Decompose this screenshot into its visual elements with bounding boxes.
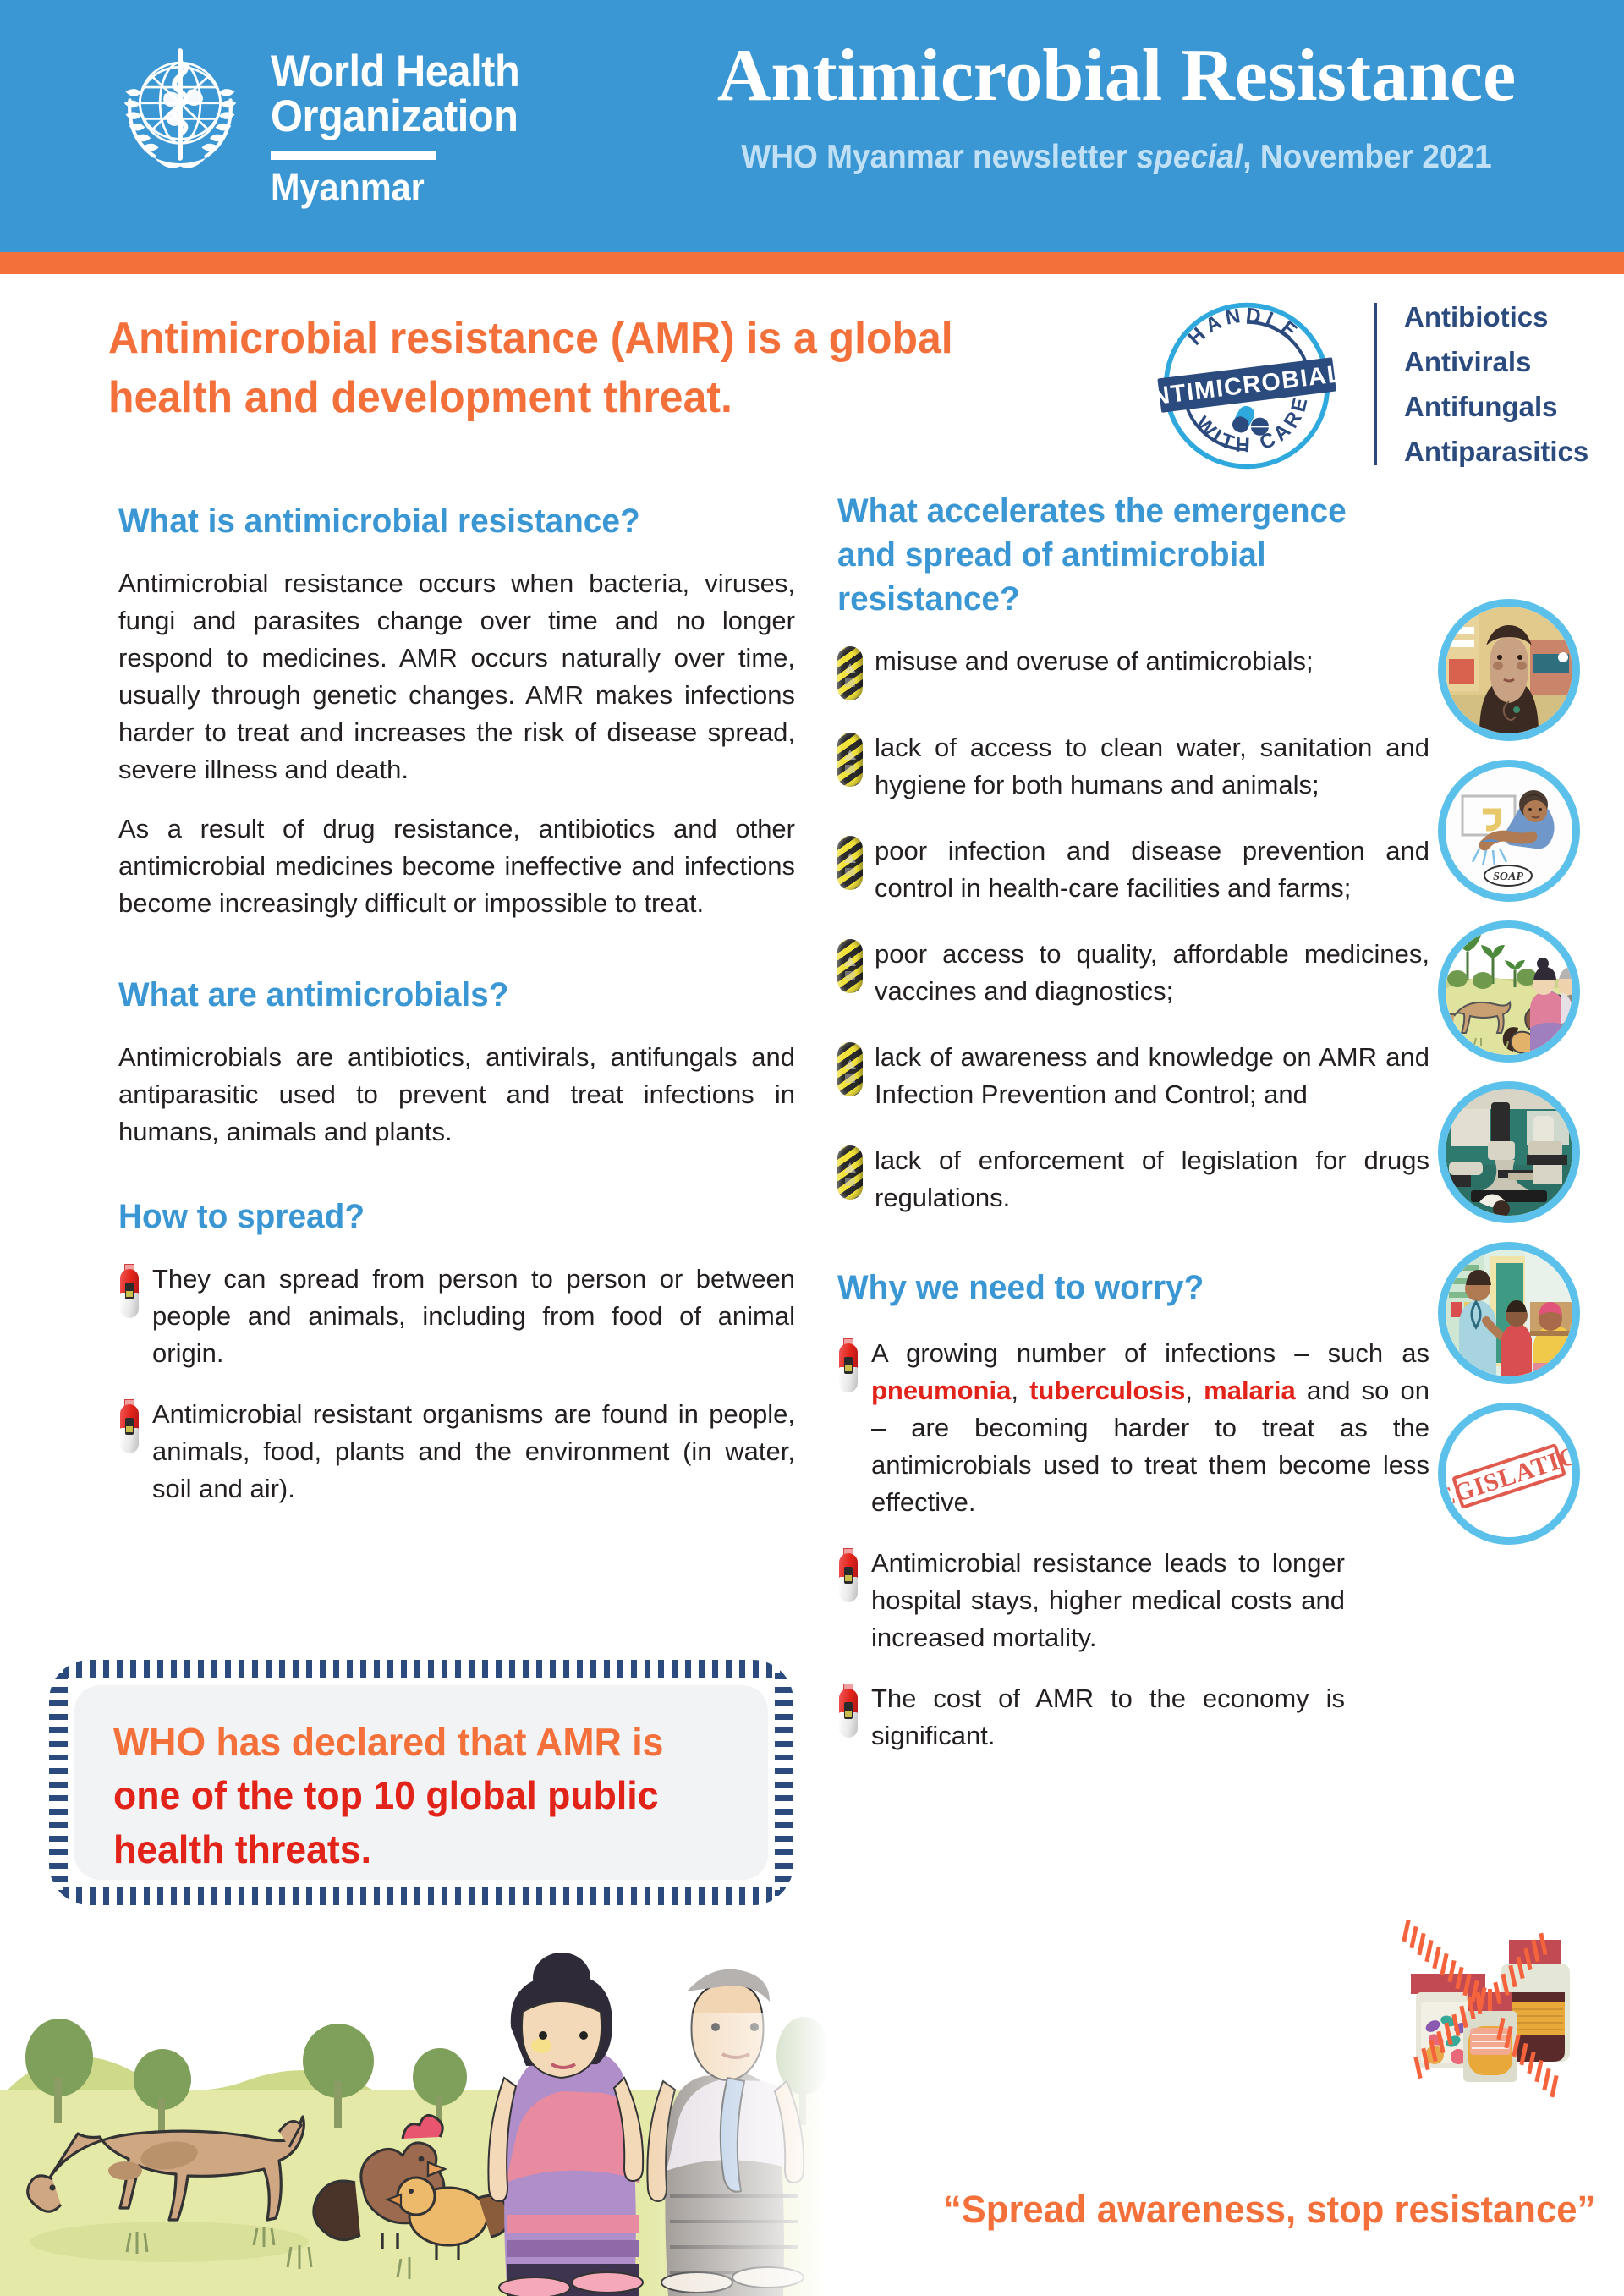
who-declaration-callout: WHO has declared that AMR is one of the … xyxy=(49,1660,793,1905)
paragraph-what-is-amr-2: As a result of drug resistance, antibiot… xyxy=(118,810,795,922)
accelerator-bullet-text-5: lack of awareness and knowledge on AMR a… xyxy=(875,1039,1429,1113)
worry-bullet-text-2: Antimicrobial resistance leads to longer… xyxy=(871,1545,1345,1656)
spread-bullet-text-2: Antimicrobial resistant organisms are fo… xyxy=(152,1396,795,1508)
handle-antimicrobials-with-care-badge-icon: HANDLE WITH CARE ANTIMICROBIALS xyxy=(1157,296,1336,475)
svg-text:HANDLE: HANDLE xyxy=(1184,304,1305,349)
heading-what-is-amr: What is antimicrobial resistance? xyxy=(118,499,775,543)
capsule-bullet-icon xyxy=(837,1338,859,1392)
amr-type-antifungals: Antifungals xyxy=(1404,393,1588,420)
list-item: poor infection and disease prevention an… xyxy=(837,832,1429,907)
list-item: lack of access to clean water, sanitatio… xyxy=(837,729,1429,804)
hazard-capsule-bullet-icon xyxy=(837,646,863,700)
hazard-capsule-bullet-icon xyxy=(837,733,863,787)
disease-tuberculosis: tuberculosis xyxy=(1029,1376,1185,1405)
disease-malaria: malaria xyxy=(1204,1376,1296,1405)
badge-top-text: HANDLE xyxy=(1184,304,1305,349)
woman-portrait-pharmacy-icon xyxy=(1438,599,1580,741)
capsule-bullet-icon xyxy=(837,1684,859,1738)
amr-type-antivirals: Antivirals xyxy=(1404,348,1588,376)
page-subtitle: WHO Myanmar newsletter special, November… xyxy=(667,139,1566,176)
callout-line-1: WHO has declared that AMR is xyxy=(113,1720,663,1764)
right-content-column: What accelerates the emergence and sprea… xyxy=(837,489,1429,1778)
handwashing-soap-icon: SOAP xyxy=(1438,760,1580,902)
heading-what-accelerates: What accelerates the emergence and sprea… xyxy=(837,489,1412,621)
paragraph-what-are-antimicrobials: Antimicrobials are antibiotics, antivira… xyxy=(118,1039,795,1151)
village-animals-farm-icon xyxy=(1438,920,1580,1063)
heading-what-are-antimicrobials: What are antimicrobials? xyxy=(118,973,775,1017)
antimicrobial-types-list: Antibiotics Antivirals Antifungals Antip… xyxy=(1374,303,1588,465)
legislation-stamp-icon: LEGISLATION xyxy=(1438,1403,1580,1545)
village-scene-illustration xyxy=(0,1929,829,2296)
disease-pneumonia: pneumonia xyxy=(871,1376,1011,1405)
accelerator-bullet-text-3: poor infection and disease prevention an… xyxy=(875,832,1429,907)
subtitle-emphasis: special xyxy=(1137,139,1243,175)
who-rule-divider xyxy=(271,151,436,160)
circle-image-column: SOAP xyxy=(1438,599,1582,1545)
capsule-bullet-icon xyxy=(118,1399,140,1453)
capsule-bullet-icon xyxy=(118,1264,140,1318)
spacer xyxy=(118,944,795,973)
list-item: A growing number of infections – such as… xyxy=(837,1335,1429,1521)
list-item: lack of enforcement of legislation for d… xyxy=(837,1142,1429,1217)
subtitle-pre: WHO Myanmar newsletter xyxy=(741,139,1136,175)
worry-1-mid1: , xyxy=(1011,1376,1029,1405)
amr-type-antibiotics: Antibiotics xyxy=(1404,303,1588,331)
banner-headline: Antimicrobial resistance (AMR) is a glob… xyxy=(108,310,1083,427)
paragraph-what-is-amr-1: Antimicrobial resistance occurs when bac… xyxy=(118,565,795,788)
list-item: misuse and overuse of antimicrobials; xyxy=(837,643,1429,700)
list-item: lack of awareness and knowledge on AMR a… xyxy=(837,1039,1429,1113)
worry-1-pre: A growing number of infections – such as xyxy=(871,1338,1429,1368)
amr-type-antiparasitics: Antiparasitics xyxy=(1404,437,1588,465)
spread-bullet-text-1: They can spread from person to person or… xyxy=(152,1261,795,1372)
worry-bullet-text-3: The cost of AMR to the economy is signif… xyxy=(871,1680,1345,1755)
who-org-line2: Organization xyxy=(271,94,519,139)
hazard-capsule-bullet-icon xyxy=(837,1042,863,1096)
list-item: The cost of AMR to the economy is signif… xyxy=(837,1680,1345,1755)
list-item: poor access to quality, affordable medic… xyxy=(837,936,1429,1010)
hazard-capsule-bullet-icon xyxy=(837,1145,863,1200)
health-worker-clinic-icon xyxy=(1438,1242,1580,1384)
spacer xyxy=(118,1173,795,1195)
header-title-block: Antimicrobial Resistance WHO Myanmar new… xyxy=(643,37,1590,176)
list-item: Antimicrobial resistant organisms are fo… xyxy=(118,1396,795,1508)
callout-text: WHO has declared that AMR is one of the … xyxy=(113,1716,721,1876)
accelerator-bullet-text-1: misuse and overuse of antimicrobials; xyxy=(875,643,1429,680)
left-content-column: What is antimicrobial resistance? Antimi… xyxy=(118,499,795,1531)
tagline-text: “Spread awareness, stop resistance” xyxy=(849,2188,1596,2232)
accelerator-bullet-text-2: lack of access to clean water, sanitatio… xyxy=(875,729,1429,804)
page-title: Antimicrobial Resistance xyxy=(643,37,1590,115)
list-item: They can spread from person to person or… xyxy=(118,1261,795,1372)
who-logo-lockup: World Health Organization Myanmar xyxy=(108,30,541,206)
callout-line-3: health threats. xyxy=(113,1827,371,1871)
capsule-bullet-icon xyxy=(837,1548,859,1602)
orange-accent-bar xyxy=(0,252,1624,274)
who-org-line1: World Health xyxy=(271,49,519,94)
banner-section: Antimicrobial resistance (AMR) is a glob… xyxy=(0,291,1624,477)
soap-label: SOAP xyxy=(1493,871,1523,883)
subtitle-post: , November 2021 xyxy=(1243,139,1492,175)
who-wordmark: World Health Organization Myanmar xyxy=(271,49,541,206)
heading-why-we-need-to-worry: Why we need to worry? xyxy=(837,1266,1412,1310)
callout-line-2: one of the top 10 global public xyxy=(113,1773,659,1817)
hazard-capsule-bullet-icon xyxy=(837,939,863,993)
accelerator-bullet-text-6: lack of enforcement of legislation for d… xyxy=(875,1142,1429,1217)
list-item: Antimicrobial resistance leads to longer… xyxy=(837,1545,1345,1656)
laboratory-microscope-icon xyxy=(1438,1081,1580,1223)
who-emblem-icon xyxy=(108,30,252,183)
heading-how-to-spread: How to spread? xyxy=(118,1195,775,1239)
who-country-label: Myanmar xyxy=(271,168,519,206)
worry-bullet-text-1: A growing number of infections – such as… xyxy=(871,1335,1429,1521)
accelerator-bullet-text-4: poor access to quality, affordable medic… xyxy=(875,936,1429,1010)
worry-1-mid2: , xyxy=(1185,1376,1204,1405)
pill-bottles-declining-chart-icon xyxy=(1387,1908,1616,2119)
page-header: World Health Organization Myanmar Antimi… xyxy=(0,0,1624,252)
hazard-capsule-bullet-icon xyxy=(837,836,863,890)
